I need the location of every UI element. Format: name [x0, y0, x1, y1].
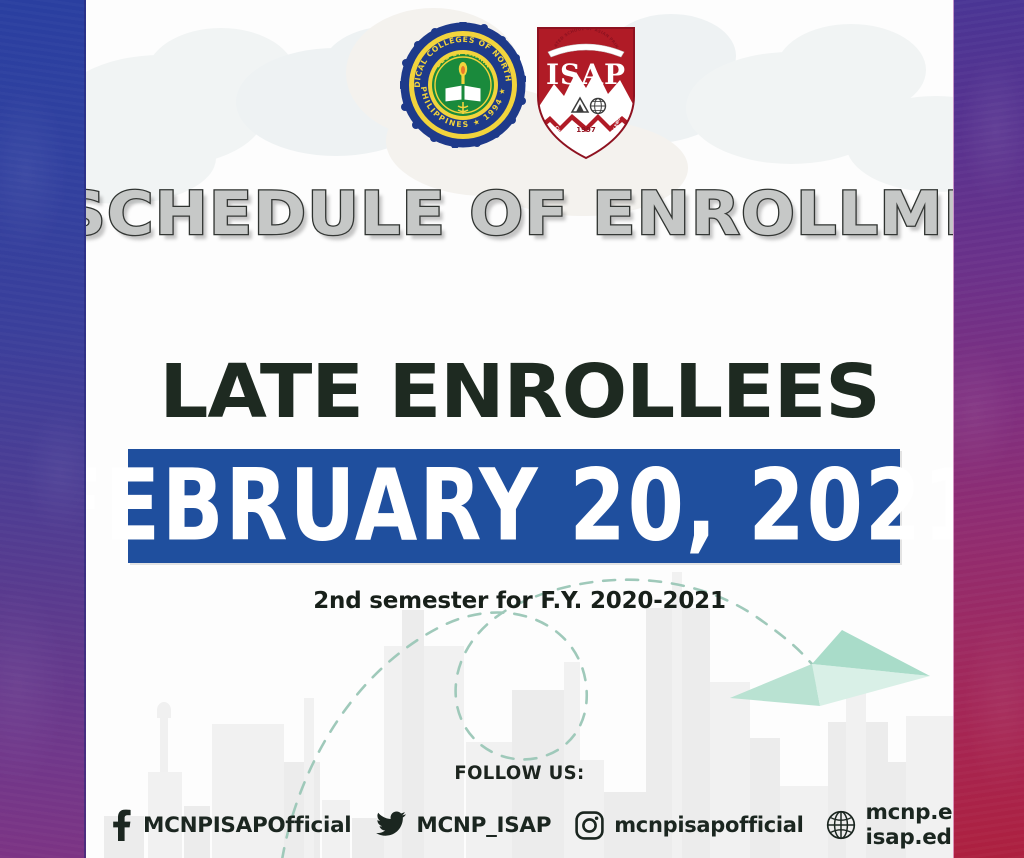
svg-text:1997: 1997 — [576, 126, 596, 134]
right-gradient-band — [953, 0, 1024, 858]
instagram-handle: mcnpisapofficial — [614, 813, 803, 837]
social-item-instagram[interactable]: mcnpisapofficial — [573, 809, 803, 841]
website-secondary: isap.edu.ph — [866, 825, 953, 850]
svg-text:ISAP: ISAP — [545, 58, 625, 91]
social-links-row: MCNPISAPOfficial MCNP_ISAP — [108, 798, 938, 852]
social-item-facebook[interactable]: MCNPISAPOfficial — [108, 808, 351, 842]
date-banner: FEBRUARY 20, 2021 — [128, 449, 900, 563]
globe-icon — [824, 808, 858, 842]
page-title: LATE ENROLLEES — [86, 352, 953, 432]
left-gradient-band — [0, 0, 86, 858]
page-eyebrow-title: SCHEDULE OF ENROLLMENT — [86, 182, 953, 246]
enrollment-date: FEBRUARY 20, 2021 — [86, 457, 953, 556]
isap-shield-logo: INTEGRATED SCHOOL OF ASIAN PRINCIPLES IS… — [532, 22, 640, 162]
facebook-handle: MCNPISAPOfficial — [143, 813, 351, 838]
website-primary: mcnp.edu.ph — [866, 800, 953, 825]
twitter-handle: MCNP_ISAP — [416, 813, 551, 838]
logos-row: MEDICAL COLLEGES OF NORTHERN PHILIPPINES… — [86, 22, 953, 168]
social-item-website[interactable]: mcnp.edu.ph isap.edu.ph — [824, 800, 953, 850]
instagram-icon — [573, 809, 605, 841]
social-item-twitter[interactable]: MCNP_ISAP — [373, 809, 551, 841]
paper-plane-icon — [716, 620, 936, 730]
poster-root: MEDICAL COLLEGES OF NORTHERN PHILIPPINES… — [0, 0, 1024, 858]
twitter-icon — [373, 809, 407, 841]
poster-canvas: MEDICAL COLLEGES OF NORTHERN PHILIPPINES… — [86, 0, 953, 858]
follow-us-label: FOLLOW US: — [108, 762, 932, 784]
facebook-icon — [108, 808, 134, 842]
page-subtitle: 2nd semester for F.Y. 2020-2021 — [86, 587, 953, 615]
mcnp-circular-seal: MEDICAL COLLEGES OF NORTHERN PHILIPPINES… — [400, 22, 526, 148]
